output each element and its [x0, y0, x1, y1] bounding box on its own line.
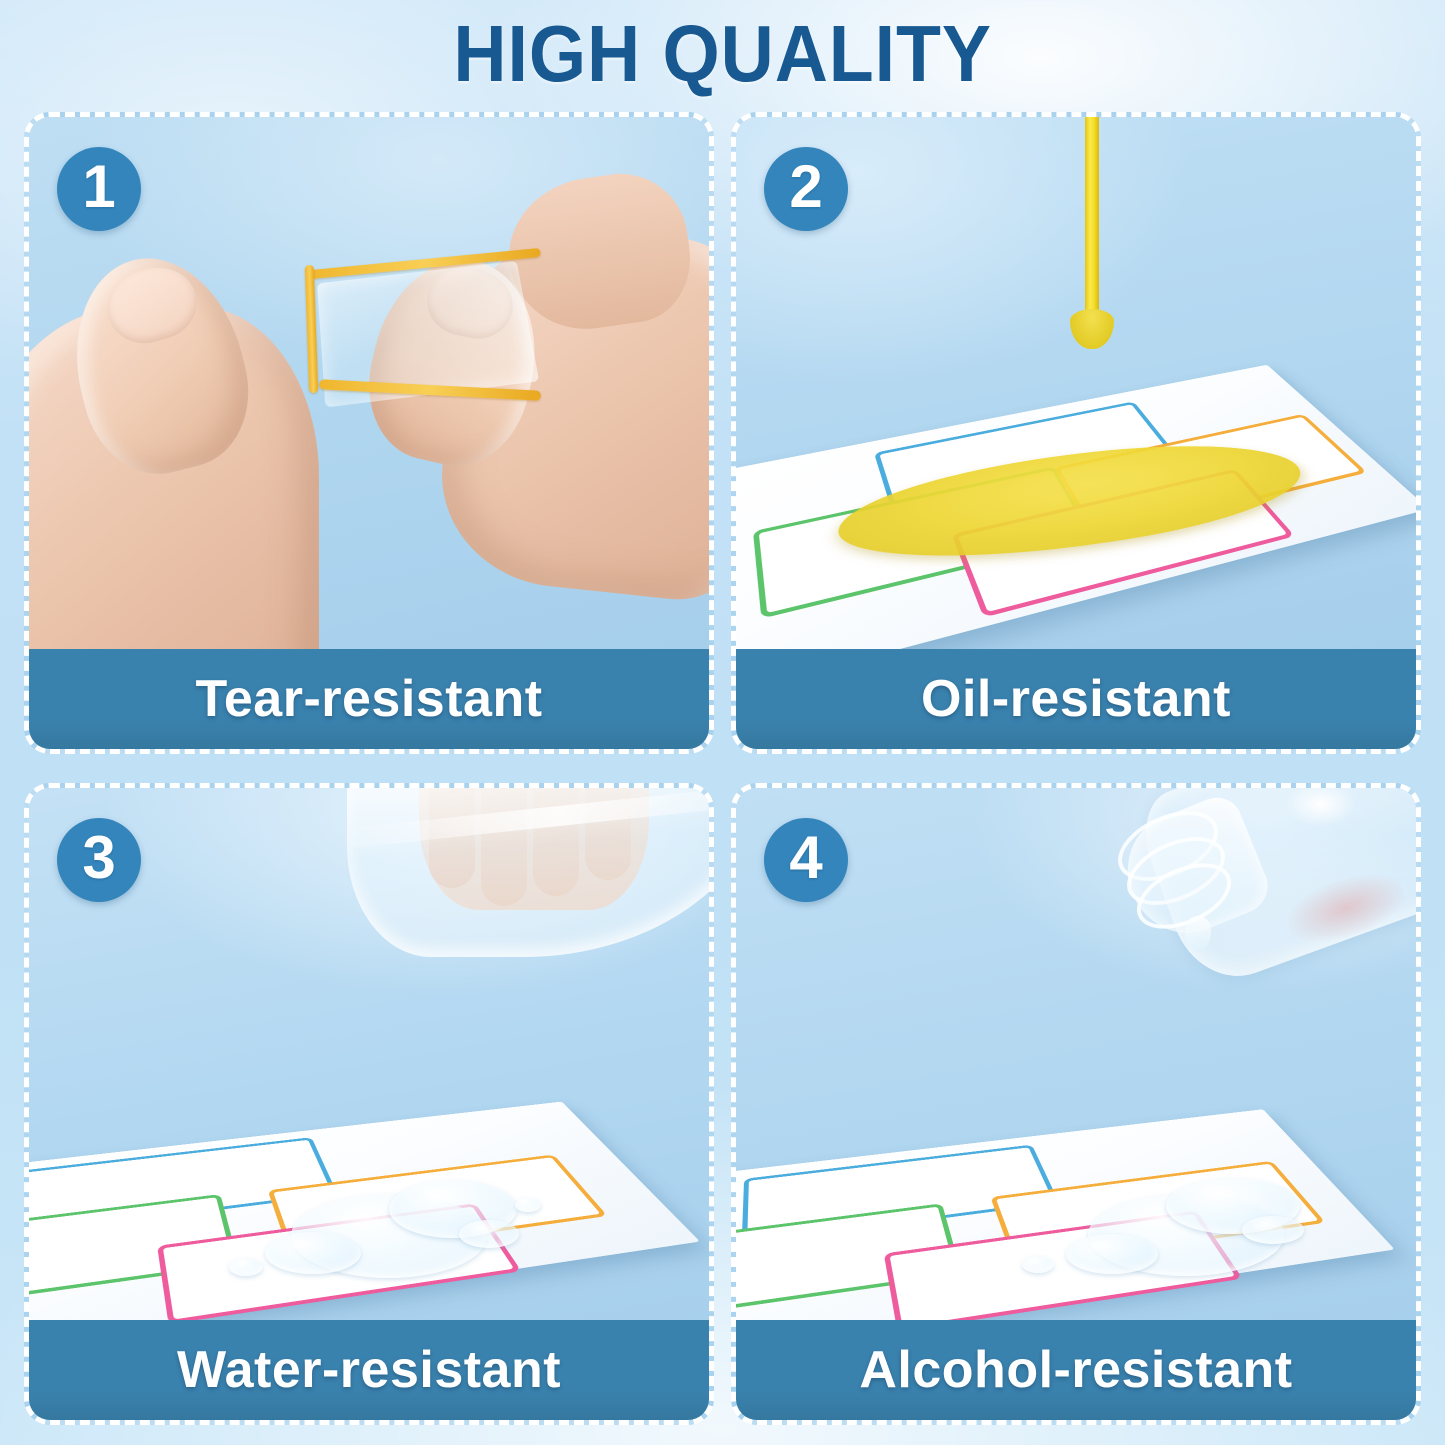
caption-label-3: Water-resistant — [177, 1340, 561, 1400]
bottle-specular-highlight — [1286, 788, 1356, 826]
caption-bar-1: Tear-resistant — [29, 649, 709, 749]
alcohol-droplet-small-1 — [1066, 1234, 1158, 1274]
caption-bar-2: Oil-resistant — [736, 649, 1416, 749]
feature-panel-alcohol-resistant[interactable]: 4 Alcohol-resistant — [731, 783, 1421, 1425]
water-droplet-small-1 — [265, 1232, 361, 1274]
water-droplet-tiny-1 — [229, 1258, 263, 1276]
caption-label-2: Oil-resistant — [921, 669, 1231, 729]
caption-label-1: Tear-resistant — [195, 669, 542, 729]
step-badge-2: 2 — [764, 147, 848, 231]
page-title: HIGH QUALITY — [453, 8, 992, 100]
feature-panel-water-resistant[interactable]: 3 Water-resistant — [24, 783, 714, 1425]
step-badge-4: 4 — [764, 818, 848, 902]
step-badge-3: 3 — [57, 818, 141, 902]
water-droplet-small-2 — [459, 1220, 519, 1248]
step-number-3: 3 — [82, 828, 115, 888]
caption-bar-3: Water-resistant — [29, 1320, 709, 1420]
oil-stream — [1085, 117, 1099, 323]
infographic-page: HIGH QUALITY — [0, 0, 1445, 1445]
alcohol-droplet-tiny — [1022, 1256, 1054, 1273]
feature-panel-grid: 1 Tear-resistant 2 — [24, 112, 1421, 1425]
caption-bar-4: Alcohol-resistant — [736, 1320, 1416, 1420]
feature-panel-oil-resistant[interactable]: 2 Oil-resistant — [731, 112, 1421, 754]
step-number-2: 2 — [789, 157, 822, 217]
step-number-1: 1 — [82, 157, 115, 217]
step-badge-1: 1 — [57, 147, 141, 231]
water-droplet-tiny-2 — [515, 1198, 541, 1212]
caption-label-4: Alcohol-resistant — [859, 1340, 1292, 1400]
page-title-wrap: HIGH QUALITY — [0, 0, 1445, 108]
step-number-4: 4 — [789, 828, 822, 888]
alcohol-droplet-small-2 — [1242, 1216, 1304, 1244]
feature-panel-tear-resistant[interactable]: 1 Tear-resistant — [24, 112, 714, 754]
